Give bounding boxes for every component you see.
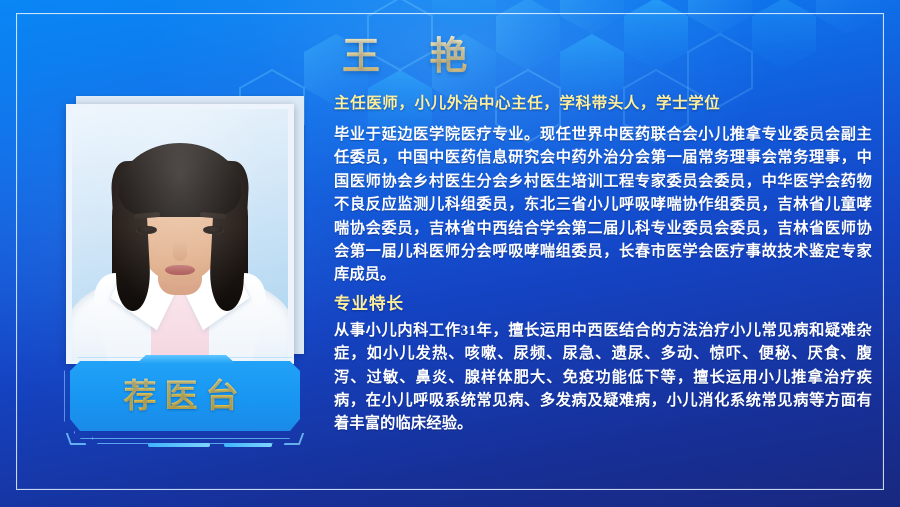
doctor-profile-poster: 荐医台 王 艳 主任医师，小儿外治中心主任，学科带头人，学士学位 毕业于延边医学… bbox=[0, 0, 900, 507]
nameplate-badge: 荐医台 bbox=[64, 355, 306, 443]
nameplate-label: 荐医台 bbox=[64, 363, 306, 429]
specialty-heading: 专业特长 bbox=[334, 291, 872, 317]
profile-content: 王 艳 主任医师，小儿外治中心主任，学科带头人，学士学位 毕业于延边医学院医疗专… bbox=[334, 30, 872, 440]
photo-highlight bbox=[72, 109, 288, 361]
photo-image bbox=[72, 109, 288, 361]
nameplate-accent-segment-a bbox=[148, 443, 210, 447]
photo-card bbox=[66, 104, 294, 364]
doctor-photo bbox=[66, 96, 304, 364]
nameplate-tick-right bbox=[284, 433, 304, 445]
doctor-name: 王 艳 bbox=[342, 30, 872, 82]
nameplate-accent-segment-b bbox=[224, 443, 272, 447]
biography-paragraph: 毕业于延边医学院医疗专业。现任世界中医药联合会小儿推拿专业委员会副主任委员，中国… bbox=[334, 123, 872, 287]
doctor-titles: 主任医师，小儿外治中心主任，学科带头人，学士学位 bbox=[334, 92, 872, 114]
portrait-illustration bbox=[72, 109, 288, 361]
specialty-paragraph: 从事小儿内科工作31年，擅长运用中西医结合的方法治疗小儿常见病和疑难杂症，如小儿… bbox=[334, 319, 872, 436]
